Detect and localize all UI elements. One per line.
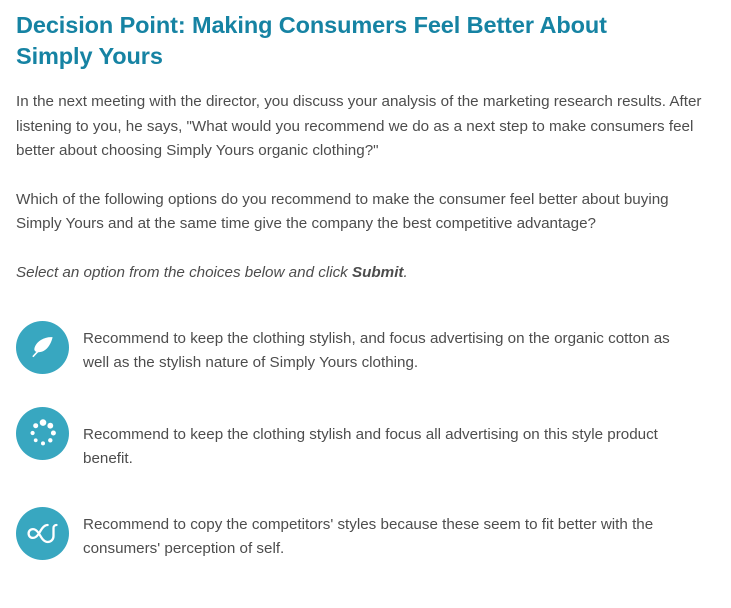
option-label: Recommend to copy the competitors' style…: [83, 503, 698, 561]
submit-emphasis: Submit: [352, 264, 403, 281]
options-list: Recommend to keep the clothing stylish, …: [16, 317, 715, 561]
option-label: Recommend to keep the clothing stylish, …: [83, 317, 698, 375]
instruction-suffix: .: [403, 264, 407, 281]
instruction-line: Select an option from the choices below …: [16, 261, 715, 285]
option-label: Recommend to keep the clothing stylish a…: [83, 407, 698, 471]
scenario-paragraph-1: In the next meeting with the director, y…: [16, 90, 706, 164]
option-item-2[interactable]: Recommend to keep the clothing stylish a…: [16, 407, 715, 471]
infinity-loops-icon[interactable]: [16, 507, 69, 560]
decision-point-page: Decision Point: Making Consumers Feel Be…: [0, 0, 731, 561]
option-item-1[interactable]: Recommend to keep the clothing stylish, …: [16, 317, 715, 375]
scenario-paragraph-2: Which of the following options do you re…: [16, 188, 706, 237]
leaf-icon[interactable]: [16, 321, 69, 374]
page-title: Decision Point: Making Consumers Feel Be…: [16, 10, 656, 72]
loading-dots-icon[interactable]: [16, 407, 69, 460]
option-item-3[interactable]: Recommend to copy the competitors' style…: [16, 503, 715, 561]
instruction-prefix: Select an option from the choices below …: [16, 264, 352, 281]
